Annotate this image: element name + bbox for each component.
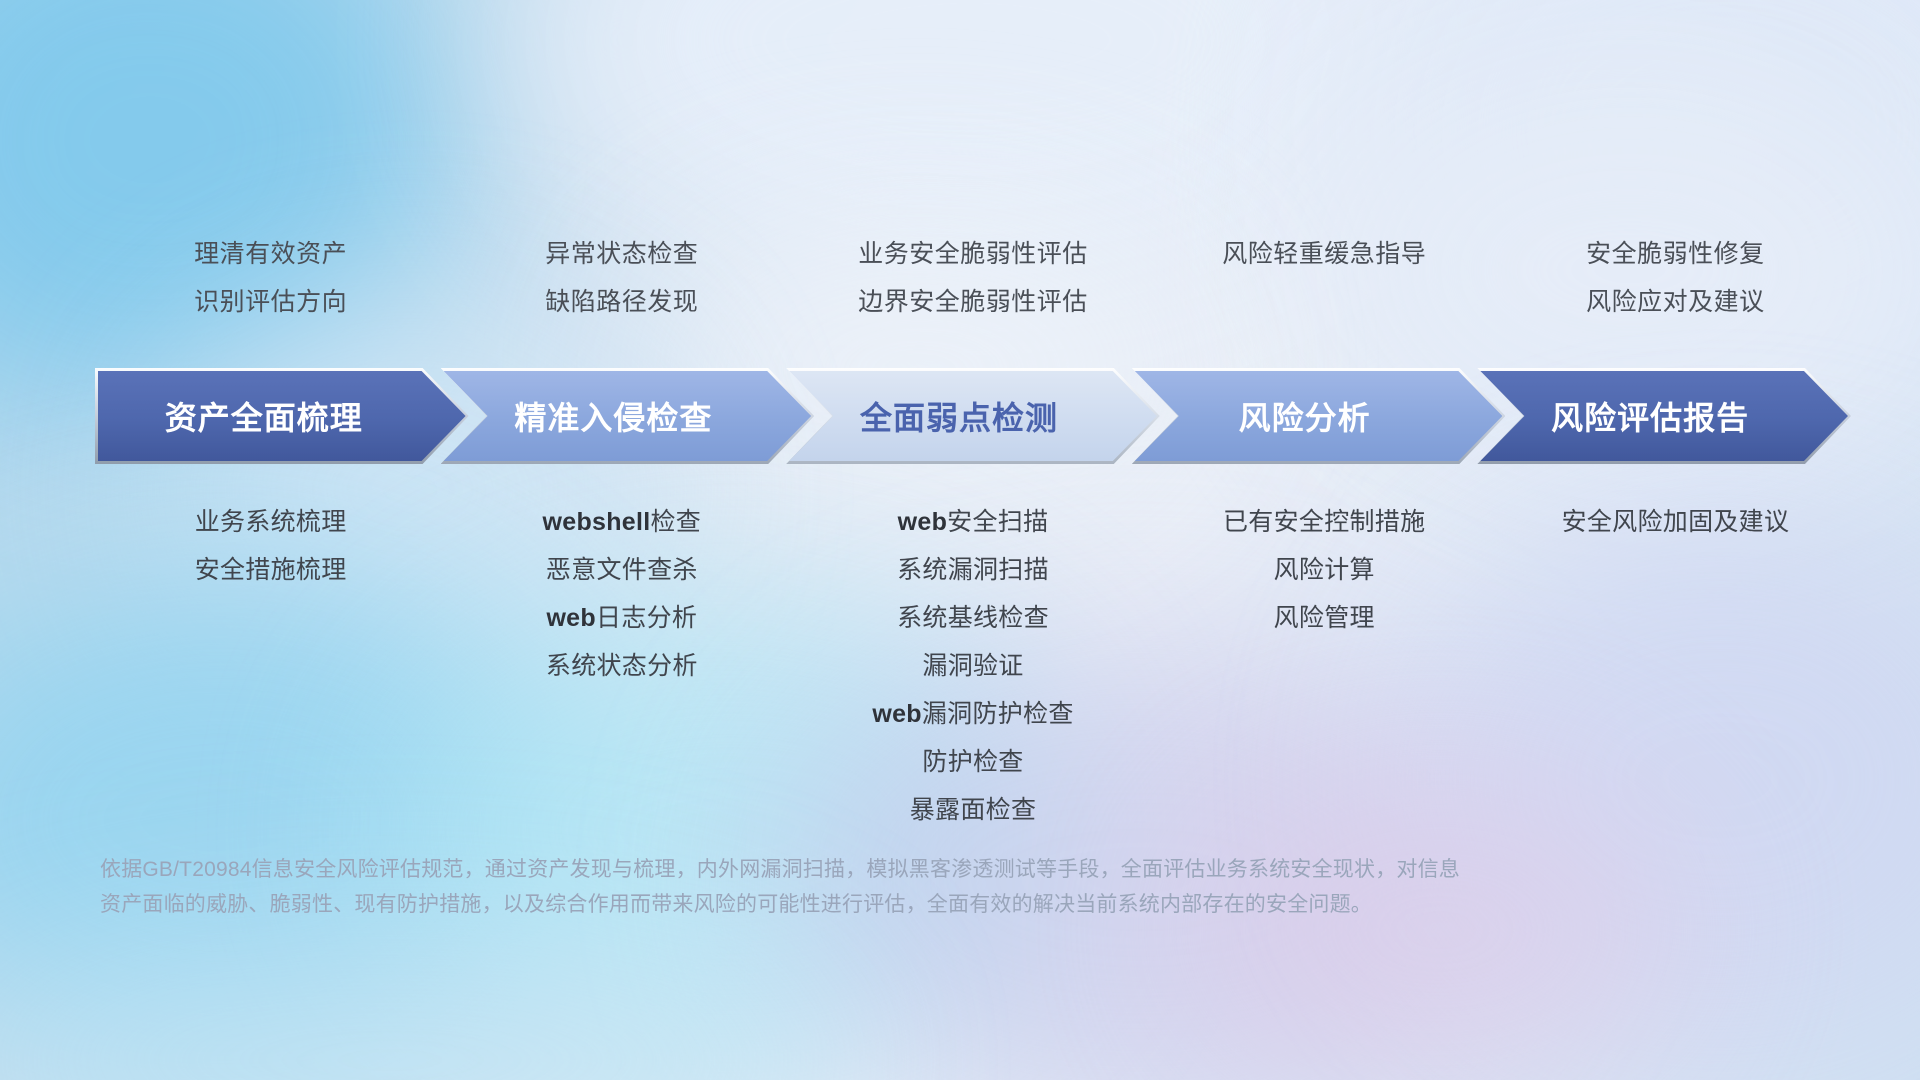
bottom-item: 风险计算: [1149, 546, 1500, 594]
bottom-item-zh: 检查: [651, 508, 702, 536]
footer-line-1: 依据GB/T20984信息安全风险评估规范，通过资产发现与梳理，内外网漏洞扫描，…: [100, 852, 1600, 887]
bottom-item-zh: 已有安全控制措施: [1223, 508, 1425, 536]
stage-chevron-weakness-detection[interactable]: 全面弱点检测: [786, 368, 1160, 464]
top-item: 业务安全脆弱性评估: [797, 230, 1148, 278]
bottom-item-zh: 漏洞防护检查: [922, 700, 1074, 728]
top-item: 识别评估方向: [95, 278, 446, 326]
bottom-column-asset-inventory: 业务系统梳理安全措施梳理: [95, 498, 446, 834]
bottom-item-en: webshell: [543, 508, 651, 536]
top-column-weakness-detection: 业务安全脆弱性评估边界安全脆弱性评估: [797, 230, 1148, 326]
bottom-item: 安全风险加固及建议: [1500, 498, 1851, 546]
top-column-risk-report: 安全脆弱性修复风险应对及建议: [1500, 230, 1851, 326]
top-item: 风险应对及建议: [1500, 278, 1851, 326]
top-item: 异常状态检查: [446, 230, 797, 278]
bottom-item: 已有安全控制措施: [1149, 498, 1500, 546]
bottom-item-zh: 安全风险加固及建议: [1562, 508, 1790, 536]
bottom-item-zh: 风险管理: [1274, 604, 1375, 632]
process-diagram: 理清有效资产识别评估方向异常状态检查缺陷路径发现业务安全脆弱性评估边界安全脆弱性…: [0, 0, 1920, 1080]
stage-label: 风险评估报告: [1551, 393, 1749, 439]
stage-chevron-risk-analysis[interactable]: 风险分析: [1132, 368, 1506, 464]
bottom-item: 漏洞验证: [797, 642, 1148, 690]
bottom-item-zh: 恶意文件查杀: [546, 556, 698, 584]
footer-line-2: 资产面临的威胁、脆弱性、现有防护措施，以及综合作用而带来风险的可能性进行评估，全…: [100, 887, 1600, 922]
top-item: 缺陷路径发现: [446, 278, 797, 326]
stage-chevron-risk-report[interactable]: 风险评估报告: [1477, 368, 1851, 464]
top-column-asset-inventory: 理清有效资产识别评估方向: [95, 230, 446, 326]
bottom-item-zh: 系统状态分析: [546, 652, 698, 680]
top-item: 风险轻重缓急指导: [1149, 230, 1500, 278]
bottom-item: 系统基线检查: [797, 594, 1148, 642]
bottom-item-zh: 安全措施梳理: [195, 556, 347, 584]
bottom-item-zh: 安全扫描: [947, 508, 1048, 536]
bottom-item-en: web: [872, 700, 922, 728]
stage-chevron-band: 资产全面梳理精准入侵检查全面弱点检测风险分析风险评估报告: [95, 368, 1851, 464]
top-outcomes-row: 理清有效资产识别评估方向异常状态检查缺陷路径发现业务安全脆弱性评估边界安全脆弱性…: [95, 230, 1851, 326]
bottom-item: 安全措施梳理: [95, 546, 446, 594]
top-item: 边界安全脆弱性评估: [797, 278, 1148, 326]
bottom-item: webshell检查: [446, 498, 797, 546]
bottom-column-intrusion-check: webshell检查恶意文件查杀web日志分析系统状态分析: [446, 498, 797, 834]
stage-label: 全面弱点检测: [860, 393, 1058, 439]
bottom-item-en: web: [898, 508, 948, 536]
bottom-column-weakness-detection: web安全扫描系统漏洞扫描系统基线检查漏洞验证web漏洞防护检查防护检查暴露面检…: [797, 498, 1148, 834]
top-column-intrusion-check: 异常状态检查缺陷路径发现: [446, 230, 797, 326]
bottom-item: 业务系统梳理: [95, 498, 446, 546]
stage-chevron-intrusion-check[interactable]: 精准入侵检查: [441, 368, 815, 464]
top-column-risk-analysis: 风险轻重缓急指导: [1149, 230, 1500, 326]
bottom-item-zh: 风险计算: [1274, 556, 1375, 584]
stage-label: 资产全面梳理: [165, 393, 363, 439]
bottom-activities-row: 业务系统梳理安全措施梳理webshell检查恶意文件查杀web日志分析系统状态分…: [95, 498, 1851, 834]
bottom-item: web安全扫描: [797, 498, 1148, 546]
bottom-item-zh: 系统基线检查: [897, 604, 1049, 632]
bottom-item: 系统漏洞扫描: [797, 546, 1148, 594]
bottom-item: web日志分析: [446, 594, 797, 642]
top-item: 理清有效资产: [95, 230, 446, 278]
bottom-item-zh: 业务系统梳理: [195, 508, 347, 536]
stage-label: 精准入侵检查: [514, 393, 712, 439]
bottom-item-en: web: [546, 604, 596, 632]
bottom-item-zh: 漏洞验证: [922, 652, 1023, 680]
bottom-item: 防护检查: [797, 738, 1148, 786]
stage-label: 风险分析: [1239, 393, 1371, 439]
bottom-item-zh: 防护检查: [922, 748, 1023, 776]
bottom-item-zh: 日志分析: [596, 604, 697, 632]
bottom-column-risk-analysis: 已有安全控制措施风险计算风险管理: [1149, 498, 1500, 834]
top-item: 安全脆弱性修复: [1500, 230, 1851, 278]
bottom-item: 暴露面检查: [797, 786, 1148, 834]
bottom-column-risk-report: 安全风险加固及建议: [1500, 498, 1851, 834]
bottom-item-zh: 系统漏洞扫描: [897, 556, 1049, 584]
bottom-item-zh: 暴露面检查: [910, 796, 1037, 824]
footer-description: 依据GB/T20984信息安全风险评估规范，通过资产发现与梳理，内外网漏洞扫描，…: [100, 852, 1600, 922]
bottom-item: 恶意文件查杀: [446, 546, 797, 594]
bottom-item: 风险管理: [1149, 594, 1500, 642]
bottom-item: 系统状态分析: [446, 642, 797, 690]
stage-chevron-asset-inventory[interactable]: 资产全面梳理: [95, 368, 469, 464]
bottom-item: web漏洞防护检查: [797, 690, 1148, 738]
